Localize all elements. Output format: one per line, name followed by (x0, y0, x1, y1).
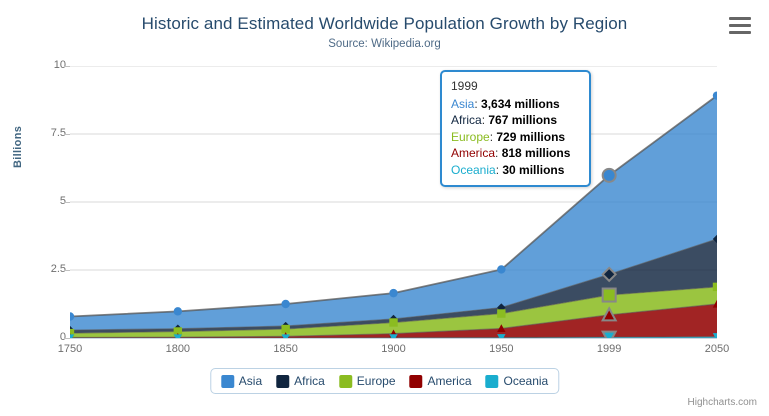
series-tooltip: 1999 Asia: 3,634 millionsAfrica: 767 mil… (440, 70, 591, 187)
y-axis-tick-label: 2.5 (6, 263, 66, 275)
tooltip-series-name: Africa (451, 113, 482, 127)
highcharts-container: Historic and Estimated Worldwide Populat… (0, 0, 769, 416)
chart-subtitle: Source: Wikipedia.org (0, 38, 769, 50)
legend-swatch-icon (486, 375, 499, 388)
x-axis-tick-label: 1900 (364, 343, 424, 355)
tooltip-row: Africa: 767 millions (451, 112, 580, 129)
legend-item-label: Africa (294, 374, 325, 388)
legend-item-asia[interactable]: Asia (221, 374, 262, 388)
tooltip-row: Asia: 3,634 millions (451, 96, 580, 113)
legend-item-label: Europe (357, 374, 396, 388)
x-axis-line (70, 338, 717, 339)
tooltip-rows: Asia: 3,634 millionsAfrica: 767 millions… (451, 96, 580, 179)
data-point-marker[interactable] (497, 309, 505, 317)
legend-item-label: Oceania (504, 374, 549, 388)
data-point-marker[interactable] (389, 289, 397, 297)
tooltip-series-name: Europe (451, 130, 490, 144)
y-axis-tick-label: 10 (6, 59, 66, 71)
x-axis-tick-label: 1850 (256, 343, 316, 355)
tooltip-series-value: 3,634 millions (481, 97, 560, 111)
data-point-marker[interactable] (389, 318, 397, 326)
data-point-marker[interactable] (281, 325, 289, 333)
tooltip-series-name: Asia (451, 97, 474, 111)
tooltip-series-name: America (451, 146, 495, 160)
x-axis-tick-label: 1999 (579, 343, 639, 355)
menu-bar-2 (729, 24, 751, 27)
legend-item-oceania[interactable]: Oceania (486, 374, 549, 388)
menu-bar-3 (729, 31, 751, 34)
tooltip-series-value: 30 millions (502, 163, 564, 177)
data-point-marker[interactable] (497, 265, 505, 273)
y-axis-tick-label: 7.5 (6, 127, 66, 139)
menu-bar-1 (729, 17, 751, 20)
credits-label: Highcharts.com (688, 397, 757, 408)
x-axis-tick-label: 1800 (148, 343, 208, 355)
data-point-marker[interactable] (713, 283, 717, 291)
x-axis-tick-label: 1750 (40, 343, 100, 355)
legend-item-europe[interactable]: Europe (339, 374, 396, 388)
legend-item-label: America (428, 374, 472, 388)
plot-area (70, 66, 717, 338)
tooltip-row: Oceania: 30 millions (451, 162, 580, 179)
hamburger-menu-icon[interactable] (729, 17, 751, 35)
tooltip-series-value: 729 millions (496, 130, 565, 144)
y-axis-tick-label: 0 (6, 331, 66, 343)
legend-item-africa[interactable]: Africa (276, 374, 325, 388)
tooltip-header: 1999 (451, 78, 580, 95)
chart-legend: AsiaAfricaEuropeAmericaOceania (210, 368, 559, 394)
legend-swatch-icon (339, 375, 352, 388)
tooltip-series-name: Oceania (451, 163, 496, 177)
legend-item-america[interactable]: America (410, 374, 472, 388)
legend-item-label: Asia (239, 374, 262, 388)
legend-swatch-icon (410, 375, 423, 388)
tooltip-separator: : (474, 97, 481, 111)
x-axis-tick-label: 2050 (687, 343, 747, 355)
tooltip-row: America: 818 millions (451, 145, 580, 162)
x-axis-tick-label: 1950 (471, 343, 531, 355)
series-svg (70, 66, 717, 338)
tooltip-series-value: 767 millions (488, 113, 557, 127)
tooltip-separator: : (495, 146, 502, 160)
data-point-marker[interactable] (281, 300, 289, 308)
legend-swatch-icon (221, 375, 234, 388)
data-point-marker[interactable] (603, 289, 616, 302)
legend-swatch-icon (276, 375, 289, 388)
data-point-marker[interactable] (174, 307, 182, 315)
data-point-marker[interactable] (603, 169, 616, 182)
chart-title: Historic and Estimated Worldwide Populat… (0, 14, 769, 34)
tooltip-row: Europe: 729 millions (451, 129, 580, 146)
y-axis-tick-label: 5 (6, 195, 66, 207)
tooltip-series-value: 818 millions (502, 146, 571, 160)
